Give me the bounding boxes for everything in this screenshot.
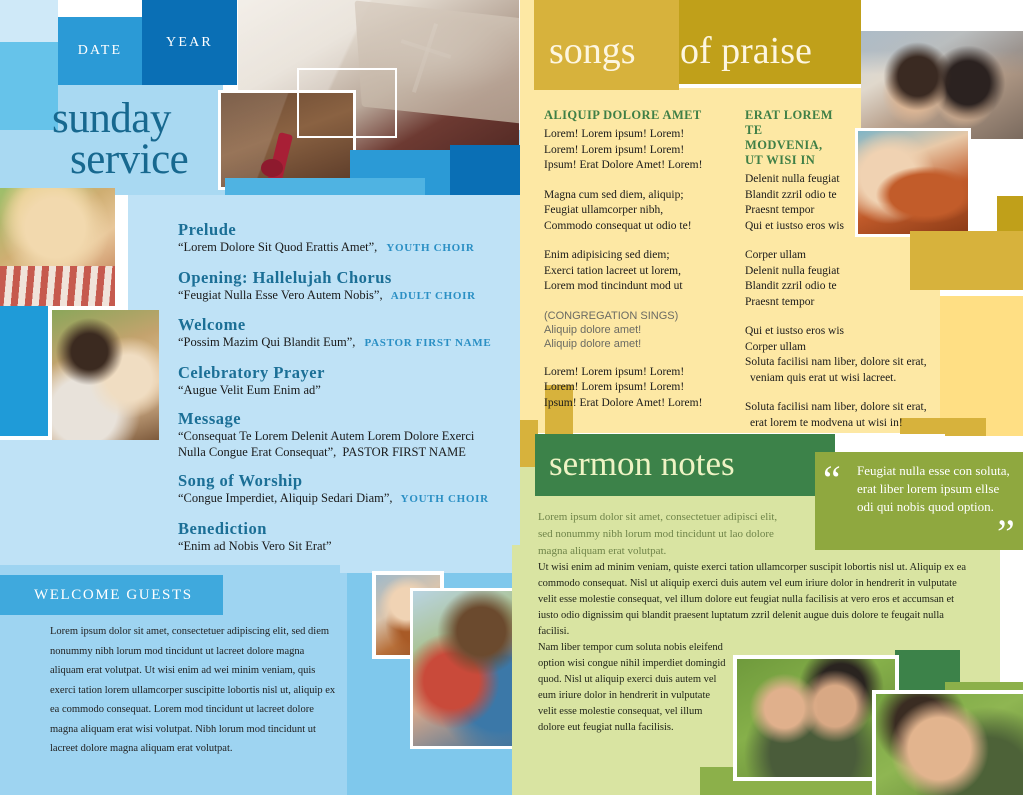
service-item: Opening: Hallelujah Chorus “Feugiat Null… (178, 268, 508, 305)
song-block: Soluta facilisi nam liber, dolore sit er… (745, 400, 960, 431)
service-item: Celebratory Prayer “Augue Velit Eum Enim… (178, 363, 508, 399)
service-item-credit: PASTOR FIRST NAME (342, 445, 465, 459)
sermon-title: sermon notes (549, 446, 735, 481)
deco-rect-green-olive-bottom (520, 767, 700, 795)
song-heading: ERAT LOREM TE MODVENIA, UT WISI IN (745, 108, 837, 168)
congregation-cue: (CONGREGATION SINGS) (544, 309, 739, 323)
service-item-title: Message (178, 409, 508, 428)
song-line: Magna cum sed diem, aliquip; (544, 188, 739, 204)
song-line: Lorem mod tincindunt mod ut (544, 279, 739, 295)
songs-title-word-2: of praise (680, 32, 812, 70)
service-item-subtitle: “Feugiat Nulla Esse Vero Autem Nobis”, A… (178, 288, 508, 305)
boy-shirt (0, 266, 115, 306)
song-block-congregation: (CONGREGATION SINGS) Aliquip dolore amet… (544, 309, 739, 351)
sermon-paragraph-1: Ut wisi enim ad minim veniam, quiste exe… (538, 560, 968, 640)
song-line: Blandit zzril odio te (745, 188, 960, 204)
song-line: Blandit zzril odio te (745, 279, 960, 295)
song-line: Lorem! Lorem ipsum! Lorem! (544, 380, 739, 396)
service-item-subtitle: “Consequat Te Lorem Delenit Autem Lorem … (178, 429, 498, 460)
song-line: Soluta facilisi nam liber, dolore sit er… (745, 400, 960, 416)
ribbon-knot (261, 159, 283, 177)
song-line: Qui et iustso eros wis (745, 324, 960, 340)
deco-rect-blue-dark-2 (0, 306, 48, 436)
service-item-subtitle: “Augue Velit Eum Enim ad” (178, 383, 508, 399)
congregation-line: Aliquip dolore amet! (544, 337, 739, 351)
service-item: Welcome “Possim Mazim Qui Blandit Eum”, … (178, 315, 508, 352)
service-item-credit: PASTOR FIRST NAME (365, 337, 492, 349)
song-block: Corper ullam Delenit nulla feugiat Bland… (745, 248, 960, 310)
quote-notch-white (835, 434, 945, 454)
service-item: Song of Worship “Congue Imperdiet, Aliqu… (178, 471, 508, 508)
song-line: Lorem! Lorem ipsum! Lorem! (544, 143, 739, 159)
song-line: Lorem! Lorem ipsum! Lorem! (544, 127, 739, 143)
deco-square-pale-topleft (0, 0, 58, 42)
service-item-credit: YOUTH CHOIR (401, 493, 489, 505)
service-item: Message “Consequat Te Lorem Delenit Aute… (178, 409, 508, 460)
service-item-subtitle: “Lorem Dolore Sit Quod Erattis Amet”, YO… (178, 240, 508, 257)
song-block: Enim adipisicing sed diem; Exerci tation… (544, 248, 739, 295)
service-item-title: Celebratory Prayer (178, 363, 508, 382)
date-label: DATE (78, 43, 123, 59)
song-line: Soluta facilisi nam liber, dolore sit er… (745, 355, 960, 371)
family-laughing-photo (52, 310, 159, 440)
service-item-subtitle: “Congue Imperdiet, Aliquip Sedari Diam”,… (178, 491, 508, 508)
congregation-line: Aliquip dolore amet! (544, 323, 739, 337)
couple-outdoors-photo (410, 588, 526, 749)
song-line: erat lorem te modvena ut wisi in! (745, 416, 960, 432)
order-of-service-list: Prelude “Lorem Dolore Sit Quod Erattis A… (178, 220, 508, 565)
service-item: Prelude “Lorem Dolore Sit Quod Erattis A… (178, 220, 508, 257)
welcome-guests-body: Lorem ipsum dolor sit amet, consectetuer… (50, 622, 340, 759)
quote-open-icon: “ (823, 470, 841, 490)
service-item-title: Benediction (178, 519, 508, 538)
song-block: Qui et iustso eros wis Corper ullam Solu… (745, 324, 960, 386)
service-item-credit: ADULT CHOIR (391, 290, 476, 302)
quote-close-icon: ” (997, 524, 1015, 544)
song-line: Praesnt tempor (745, 295, 960, 311)
service-item-title: Song of Worship (178, 471, 508, 490)
song-line: Delenit nulla feugiat (745, 172, 960, 188)
songs-right-column: ERAT LOREM TE MODVENIA, UT WISI IN Delen… (745, 108, 960, 445)
service-item-subtitle: “Possim Mazim Qui Blandit Eum”, PASTOR F… (178, 335, 508, 352)
song-block: ALIQUIP DOLORE AMET Lorem! Lorem ipsum! … (544, 108, 739, 174)
song-line: Qui et iustso eros wis (745, 219, 960, 235)
pull-quote-box: “ Feugiat nulla esse con soluta, erat li… (815, 452, 1023, 550)
song-line: Ipsum! Erat Dolore Amet! Lorem! (544, 396, 739, 412)
song-line: Ipsum! Erat Dolore Amet! Lorem! (544, 158, 739, 174)
song-line: Feugiat ullamcorper nibh, (544, 203, 739, 219)
pull-quote-text: Feugiat nulla esse con soluta, erat libe… (857, 462, 1012, 516)
song-line: Lorem! Lorem ipsum! Lorem! (544, 365, 739, 381)
song-line: Delenit nulla feugiat (745, 264, 960, 280)
songs-left-column: ALIQUIP DOLORE AMET Lorem! Lorem ipsum! … (544, 108, 739, 425)
song-line: Exerci tation lacreet ut lorem, (544, 264, 739, 280)
welcome-guests-heading: WELCOME GUESTS (0, 575, 223, 615)
sermon-lead-paragraph: Lorem ipsum dolor sit amet, consectetuer… (538, 509, 788, 560)
song-line: Corper ullam (745, 340, 960, 356)
photo-highlight-frame (297, 68, 397, 138)
service-item-title: Opening: Hallelujah Chorus (178, 268, 508, 287)
date-block: DATE (58, 17, 142, 85)
sermon-paragraph-2: Nam liber tempor cum soluta nobis eleife… (538, 640, 728, 736)
songs-panel-left-edge (520, 0, 534, 100)
song-block: Magna cum sed diem, aliquip; Feugiat ull… (544, 188, 739, 235)
child-closeup-grass-photo (872, 690, 1023, 795)
welcome-guests-label: WELCOME GUESTS (34, 587, 193, 604)
year-label: YEAR (166, 35, 213, 51)
song-line: Corper ullam (745, 248, 960, 264)
service-item-title: Prelude (178, 220, 508, 239)
song-line: Commodo consequat ut odio te! (544, 219, 739, 235)
song-line: Enim adipisicing sed diem; (544, 248, 739, 264)
year-block: YEAR (142, 0, 237, 85)
song-block: Lorem! Lorem ipsum! Lorem! Lorem! Lorem … (544, 365, 739, 412)
songs-title-word-1: songs (549, 32, 636, 70)
song-block: ERAT LOREM TE MODVENIA, UT WISI IN Delen… (745, 108, 960, 234)
service-item-title: Welcome (178, 315, 508, 334)
bulletin-page: DATE YEAR sunday service (0, 0, 1023, 795)
service-item-credit: YOUTH CHOIR (386, 242, 474, 254)
smiling-boy-photo (0, 188, 115, 306)
song-line: veniam quis erat ut wisi lacreet. (745, 371, 960, 387)
song-heading: ALIQUIP DOLORE AMET (544, 108, 739, 123)
deco-square-mid-topleft (0, 42, 58, 130)
song-line: Praesnt tempor (745, 203, 960, 219)
deco-rect-blue-bottom (340, 545, 520, 573)
